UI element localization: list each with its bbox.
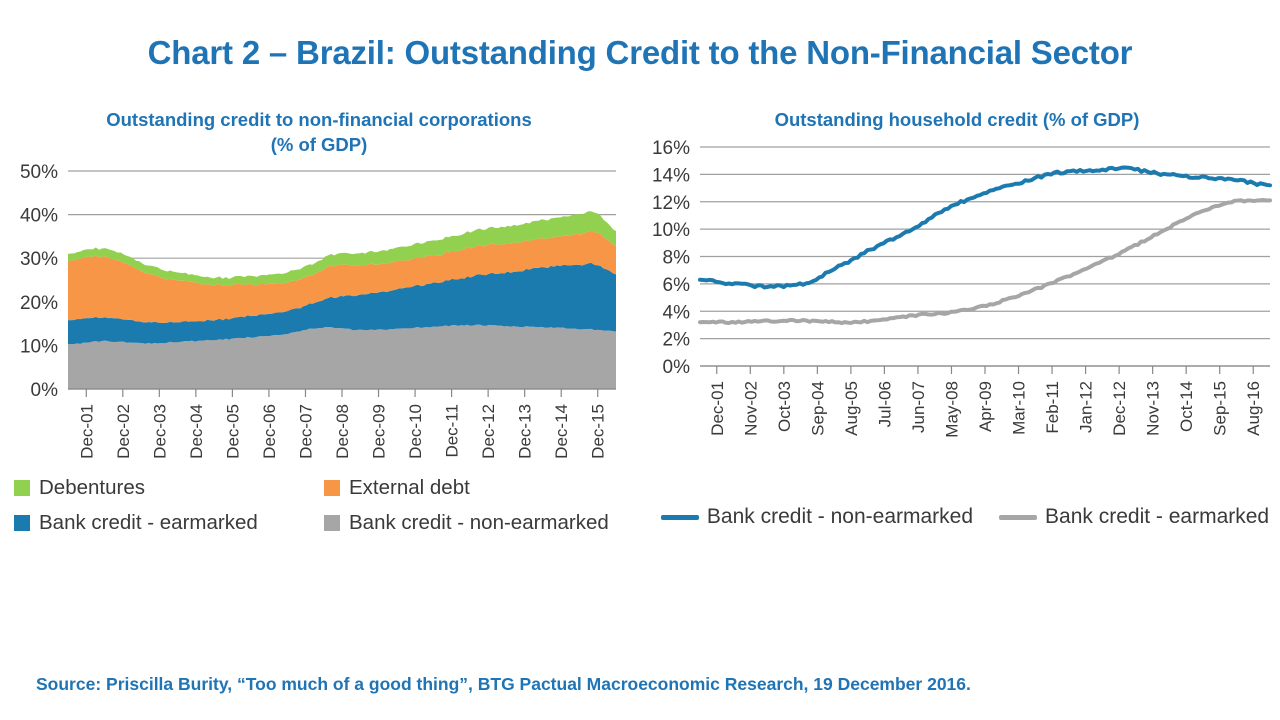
legend-label-debentures: Debentures	[39, 476, 145, 500]
panel-households: Outstanding household credit (% of GDP) …	[634, 108, 1280, 463]
y-axis-tick-label: 40%	[20, 206, 58, 227]
x-axis-tick-label: Dec-08	[333, 404, 352, 459]
y-axis-tick-label: 10%	[20, 337, 58, 358]
legend-label-hh-earmarked: Bank credit - earmarked	[1045, 505, 1269, 529]
x-axis-tick-label: Sep-04	[808, 381, 827, 436]
x-axis-tick-label: Jan-12	[1077, 381, 1096, 433]
x-axis-tick-label: Aug-05	[842, 381, 861, 436]
y-axis-tick-label: 6%	[663, 274, 691, 295]
x-axis-tick-label: Dec-14	[552, 404, 571, 459]
chart-corporations-svg: 0%10%20%30%40%50%Dec-01Dec-02Dec-03Dec-0…	[6, 157, 632, 487]
line-series-bank-credit-non-earmarked	[700, 167, 1270, 287]
legend-item-bank-credit-non-earmarked[interactable]: Bank credit - non-earmarked	[324, 511, 624, 535]
panel-corporations-subtitle-line1: Outstanding credit to non-financial corp…	[106, 109, 532, 130]
y-axis-tick-label: 50%	[20, 162, 58, 183]
x-axis-tick-label: Dec-06	[260, 404, 279, 459]
legend-swatch-icon-bank-credit-non-earmarked	[324, 515, 340, 531]
x-axis-tick-label: Dec-12	[1110, 381, 1129, 436]
y-axis-tick-label: 12%	[652, 192, 690, 213]
y-axis-tick-label: 8%	[663, 247, 691, 268]
x-axis-tick-label: Mar-10	[1010, 381, 1029, 435]
x-axis-tick-label: Aug-16	[1244, 381, 1263, 436]
x-axis-tick-label: Nov-02	[741, 381, 760, 436]
legend-corporations: Debentures External debt Bank credit - e…	[14, 470, 624, 540]
y-axis-tick-label: 10%	[652, 220, 690, 241]
legend-item-debentures[interactable]: Debentures	[14, 476, 324, 500]
line-series-bank-credit-earmarked	[700, 200, 1270, 323]
legend-item-external-debt[interactable]: External debt	[324, 476, 624, 500]
legend-item-bank-credit-earmarked[interactable]: Bank credit - earmarked	[14, 511, 324, 535]
legend-line-icon-hh-earmarked	[999, 515, 1037, 520]
y-axis-tick-label: 16%	[652, 138, 690, 159]
x-axis-tick-label: Dec-12	[479, 404, 498, 459]
x-axis-tick-label: Oct-03	[775, 381, 794, 432]
x-axis-tick-label: Apr-09	[976, 381, 995, 432]
page-title: Chart 2 – Brazil: Outstanding Credit to …	[0, 34, 1280, 72]
panel-corporations-subtitle: Outstanding credit to non-financial corp…	[6, 108, 632, 157]
x-axis-tick-label: Nov-13	[1144, 381, 1163, 436]
chart-corporations: 0%10%20%30%40%50%Dec-01Dec-02Dec-03Dec-0…	[6, 157, 632, 487]
chart-households: 0%2%4%6%8%10%12%14%16%Dec-01Nov-02Oct-03…	[634, 133, 1280, 463]
y-axis-tick-label: 0%	[663, 357, 691, 378]
legend-line-icon-hh-non-earmarked	[661, 515, 699, 520]
legend-swatch-icon-external-debt	[324, 480, 340, 496]
y-axis-tick-label: 14%	[652, 165, 690, 186]
x-axis-tick-label: Feb-11	[1043, 381, 1062, 434]
legend-households: Bank credit - non-earmarked Bank credit …	[650, 505, 1280, 529]
legend-item-hh-earmarked[interactable]: Bank credit - earmarked	[999, 505, 1269, 529]
slide-root: Chart 2 – Brazil: Outstanding Credit to …	[0, 0, 1280, 720]
y-axis-tick-label: 0%	[31, 380, 59, 401]
chart-households-svg: 0%2%4%6%8%10%12%14%16%Dec-01Nov-02Oct-03…	[634, 133, 1280, 478]
x-axis-tick-label: Dec-03	[150, 404, 169, 459]
source-citation: Source: Priscilla Burity, “Too much of a…	[36, 674, 971, 695]
panel-households-subtitle: Outstanding household credit (% of GDP)	[634, 108, 1280, 133]
legend-label-external-debt: External debt	[349, 476, 470, 500]
x-axis-tick-label: May-08	[942, 381, 961, 438]
x-axis-tick-label: Dec-10	[406, 404, 425, 459]
x-axis-tick-label: Dec-15	[589, 404, 608, 459]
panel-corporations-subtitle-line2: (% of GDP)	[16, 133, 622, 158]
x-axis-tick-label: Dec-05	[223, 404, 242, 459]
legend-label-bank-credit-non-earmarked: Bank credit - non-earmarked	[349, 511, 609, 535]
x-axis-tick-label: Dec-01	[708, 381, 727, 436]
x-axis-tick-label: Oct-14	[1177, 381, 1196, 432]
y-axis-tick-label: 2%	[663, 329, 691, 350]
x-axis-tick-label: Dec-13	[516, 404, 535, 459]
panel-households-subtitle-line1: Outstanding household credit (% of GDP)	[775, 109, 1140, 130]
x-axis-tick-label: Sep-15	[1211, 381, 1230, 436]
panel-corporations: Outstanding credit to non-financial corp…	[6, 108, 632, 487]
x-axis-tick-label: Jul-06	[875, 381, 894, 427]
x-axis-tick-label: Dec-01	[77, 404, 96, 459]
x-axis-tick-label: Dec-09	[370, 404, 389, 459]
y-axis-tick-label: 4%	[663, 302, 691, 323]
x-axis-tick-label: Dec-02	[114, 404, 133, 459]
y-axis-tick-label: 30%	[20, 249, 58, 270]
legend-swatch-icon-bank-credit-earmarked	[14, 515, 30, 531]
x-axis-tick-label: Dec-07	[296, 404, 315, 459]
x-axis-tick-label: Jun-07	[909, 381, 928, 433]
x-axis-tick-label: Dec-04	[187, 404, 206, 459]
legend-item-hh-non-earmarked[interactable]: Bank credit - non-earmarked	[661, 505, 973, 529]
legend-swatch-icon-debentures	[14, 480, 30, 496]
legend-label-bank-credit-earmarked: Bank credit - earmarked	[39, 511, 258, 535]
y-axis-tick-label: 20%	[20, 293, 58, 314]
x-axis-tick-label: Dec-11	[443, 404, 462, 458]
legend-label-hh-non-earmarked: Bank credit - non-earmarked	[707, 505, 973, 529]
